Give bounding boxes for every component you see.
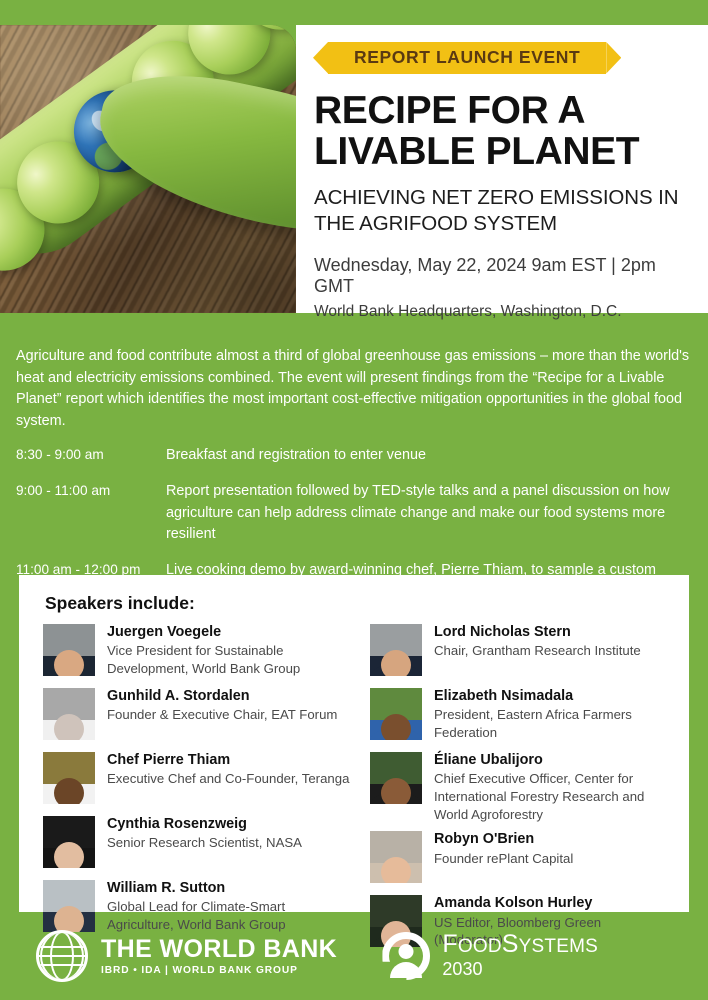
agenda-description: Report presentation followed by TED-styl… bbox=[166, 481, 686, 546]
world-bank-logo: THE WORLD BANK IBRD • IDA | WORLD BANK G… bbox=[36, 930, 337, 982]
hero-section: REPORT LAUNCH EVENT RECIPE FOR A LIVABLE… bbox=[0, 0, 708, 333]
intro-paragraph: Agriculture and food contribute almost a… bbox=[16, 346, 694, 432]
speaker-name: Amanda Kolson Hurley bbox=[434, 894, 673, 912]
report-launch-ribbon: REPORT LAUNCH EVENT bbox=[328, 42, 606, 74]
agenda-description: Breakfast and registration to enter venu… bbox=[166, 445, 426, 467]
agenda-row: 9:00 - 11:00 am Report presentation foll… bbox=[16, 481, 692, 546]
agenda-time: 8:30 - 9:00 am bbox=[16, 445, 166, 467]
world-bank-tagline: IBRD • IDA | WORLD BANK GROUP bbox=[101, 965, 337, 976]
speaker-item: Chef Pierre Thiam Executive Chef and Co-… bbox=[35, 750, 354, 808]
world-bank-name: THE WORLD BANK bbox=[101, 936, 337, 962]
speakers-column-right: Lord Nicholas Stern Chair, Grantham Rese… bbox=[354, 622, 673, 957]
speaker-item: Lord Nicholas Stern Chair, Grantham Rese… bbox=[362, 622, 673, 680]
speaker-role: Founder rePlant Capital bbox=[434, 850, 573, 868]
food-systems-logo: FOODSYSTEMS 2030 bbox=[382, 932, 598, 980]
page-subtitle: ACHIEVING NET ZERO EMISSIONS IN THE AGRI… bbox=[314, 185, 690, 236]
speaker-name: Éliane Ubalijoro bbox=[434, 751, 673, 769]
event-datetime: Wednesday, May 22, 2024 9am EST | 2pm GM… bbox=[314, 255, 690, 297]
subtitle-line-1: ACHIEVING NET ZERO EMISSIONS IN bbox=[314, 185, 690, 211]
speaker-name: Gunhild A. Stordalen bbox=[107, 687, 337, 705]
avatar bbox=[43, 816, 95, 868]
event-location: World Bank Headquarters, Washington, D.C… bbox=[314, 303, 690, 321]
speaker-role: Founder & Executive Chair, EAT Forum bbox=[107, 706, 337, 724]
avatar bbox=[370, 752, 422, 804]
speakers-heading: Speakers include: bbox=[45, 593, 673, 614]
speaker-item: Robyn O'Brien Founder rePlant Capital bbox=[362, 829, 673, 887]
speaker-name: Robyn O'Brien bbox=[434, 830, 573, 848]
food-systems-year: 2030 bbox=[442, 959, 598, 980]
speaker-name: Elizabeth Nsimadala bbox=[434, 687, 673, 705]
speaker-name: Chef Pierre Thiam bbox=[107, 751, 349, 769]
speaker-name: Juergen Voegele bbox=[107, 623, 354, 641]
speakers-card: Speakers include: Juergen Voegele Vice P… bbox=[19, 575, 689, 912]
avatar bbox=[43, 688, 95, 740]
avatar bbox=[43, 752, 95, 804]
footer-logos: THE WORLD BANK IBRD • IDA | WORLD BANK G… bbox=[0, 912, 708, 1000]
speaker-role: Vice President for Sustainable Developme… bbox=[107, 642, 354, 677]
speaker-item: Juergen Voegele Vice President for Susta… bbox=[35, 622, 354, 680]
avatar bbox=[43, 624, 95, 676]
speaker-item: Éliane Ubalijoro Chief Executive Officer… bbox=[362, 750, 673, 823]
hero-image-pea-pod-earth bbox=[0, 25, 296, 313]
avatar bbox=[370, 831, 422, 883]
agenda-row: 8:30 - 9:00 am Breakfast and registratio… bbox=[16, 445, 692, 467]
event-poster: REPORT LAUNCH EVENT RECIPE FOR A LIVABLE… bbox=[0, 0, 708, 1000]
speaker-role: Chief Executive Officer, Center for Inte… bbox=[434, 770, 673, 823]
speaker-role: Executive Chef and Co-Founder, Teranga bbox=[107, 770, 349, 788]
speakers-column-left: Juergen Voegele Vice President for Susta… bbox=[35, 622, 354, 957]
avatar bbox=[370, 624, 422, 676]
speaker-name: Cynthia Rosenzweig bbox=[107, 815, 302, 833]
speakers-columns: Juergen Voegele Vice President for Susta… bbox=[35, 622, 673, 957]
agenda-time: 9:00 - 11:00 am bbox=[16, 481, 166, 546]
speaker-item: Cynthia Rosenzweig Senior Research Scien… bbox=[35, 814, 354, 872]
speaker-item: Elizabeth Nsimadala President, Eastern A… bbox=[362, 686, 673, 744]
speaker-item: Gunhild A. Stordalen Founder & Executive… bbox=[35, 686, 354, 744]
speaker-name: Lord Nicholas Stern bbox=[434, 623, 641, 641]
food-systems-wreath-icon bbox=[382, 932, 430, 980]
page-title: RECIPE FOR A LIVABLE PLANET bbox=[314, 90, 690, 173]
speaker-role: President, Eastern Africa Farmers Federa… bbox=[434, 706, 673, 741]
title-line-2: LIVABLE PLANET bbox=[314, 131, 690, 172]
speaker-role: Chair, Grantham Research Institute bbox=[434, 642, 641, 660]
hero-text-panel: REPORT LAUNCH EVENT RECIPE FOR A LIVABLE… bbox=[296, 25, 708, 313]
speaker-role: Senior Research Scientist, NASA bbox=[107, 834, 302, 852]
globe-icon bbox=[36, 930, 88, 982]
food-systems-name: FOODSYSTEMS bbox=[442, 932, 598, 957]
title-line-1: RECIPE FOR A bbox=[314, 90, 690, 131]
speaker-name: William R. Sutton bbox=[107, 879, 354, 897]
avatar bbox=[370, 688, 422, 740]
body-section: Agriculture and food contribute almost a… bbox=[0, 333, 708, 603]
subtitle-line-2: THE AGRIFOOD SYSTEM bbox=[314, 211, 690, 237]
